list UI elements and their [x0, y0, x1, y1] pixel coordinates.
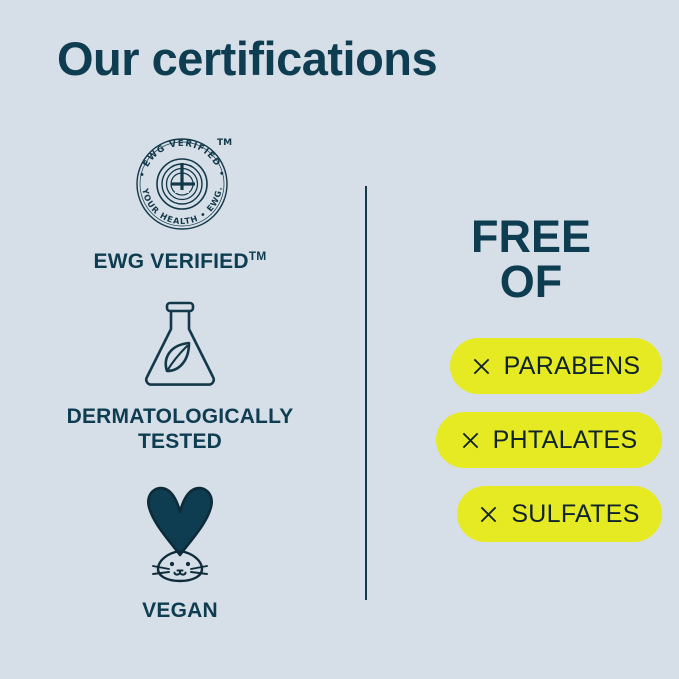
certifications-panel: Our certifications • EWG VERIFIED • [0, 0, 679, 679]
free-of-pill-label-parabens: PARABENS [504, 352, 641, 381]
certification-label-ewg-text: EWG VERIFIED [94, 250, 249, 273]
free-of-pill-label-sulfates: SULFATES [511, 500, 639, 529]
ewg-verified-seal-icon: • EWG VERIFIED • FOR YOUR HEALTH • EWG.O… [128, 130, 232, 239]
certification-item-dermatologically-tested: DERMATOLOGICALLY TESTED [20, 299, 340, 455]
free-of-pill-phtalates[interactable]: PHTALATES [436, 412, 662, 468]
certification-label-vegan: VEGAN [142, 598, 218, 624]
free-of-heading-line2: OF [400, 259, 662, 304]
free-of-heading-line1: FREE [400, 214, 662, 259]
certification-item-vegan: VEGAN [20, 479, 340, 624]
certification-list: • EWG VERIFIED • FOR YOUR HEALTH • EWG.O… [20, 130, 340, 623]
free-of-pill-parabens[interactable]: PARABENS [450, 338, 662, 394]
svg-text:TM: TM [217, 138, 232, 148]
x-mark-icon [472, 357, 491, 376]
free-of-heading: FREE OF [400, 214, 662, 304]
x-mark-icon [461, 431, 480, 450]
free-of-pill-sulfates[interactable]: SULFATES [457, 486, 662, 542]
vertical-divider [365, 186, 367, 600]
certification-label-line2: TESTED [67, 429, 294, 455]
trademark-symbol: TM [249, 249, 267, 263]
certification-label-ewg: EWG VERIFIEDTM [94, 249, 267, 275]
bunny-heart-ears-icon [127, 479, 233, 588]
flask-with-leaf-icon [137, 299, 223, 394]
certification-label-dermatologically-tested: DERMATOLOGICALLY TESTED [67, 404, 294, 455]
certification-item-ewg: • EWG VERIFIED • FOR YOUR HEALTH • EWG.O… [20, 130, 340, 275]
page-title: Our certifications [57, 33, 437, 85]
free-of-pill-list: PARABENS PHTALATES SULFATES [400, 338, 662, 542]
x-mark-icon [479, 505, 498, 524]
free-of-pill-label-phtalates: PHTALATES [493, 426, 638, 455]
free-of-section: FREE OF PARABENS PHTALATES SULFATE [400, 214, 662, 542]
certification-label-line1: DERMATOLOGICALLY [67, 404, 294, 430]
